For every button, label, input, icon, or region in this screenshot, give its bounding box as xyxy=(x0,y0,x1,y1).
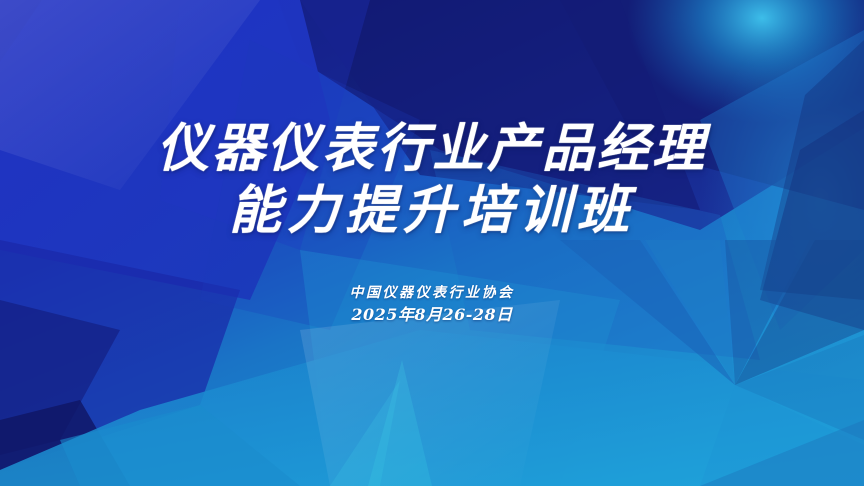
organization-name: 中国仪器仪表行业协会 xyxy=(350,283,515,303)
title-block: 仪器仪表行业产品经理 能力提升培训班 xyxy=(0,118,864,242)
subtitle-block: 中国仪器仪表行业协会 2025年8月26-28日 xyxy=(350,283,515,326)
title-slide: 仪器仪表行业产品经理 能力提升培训班 中国仪器仪表行业协会 2025年8月26-… xyxy=(0,0,864,486)
event-date: 2025年8月26-28日 xyxy=(350,304,515,326)
title-line-2: 能力提升培训班 xyxy=(0,180,864,242)
title-line-1: 仪器仪表行业产品经理 xyxy=(0,118,864,180)
slide-content: 仪器仪表行业产品经理 能力提升培训班 中国仪器仪表行业协会 2025年8月26-… xyxy=(0,0,864,486)
